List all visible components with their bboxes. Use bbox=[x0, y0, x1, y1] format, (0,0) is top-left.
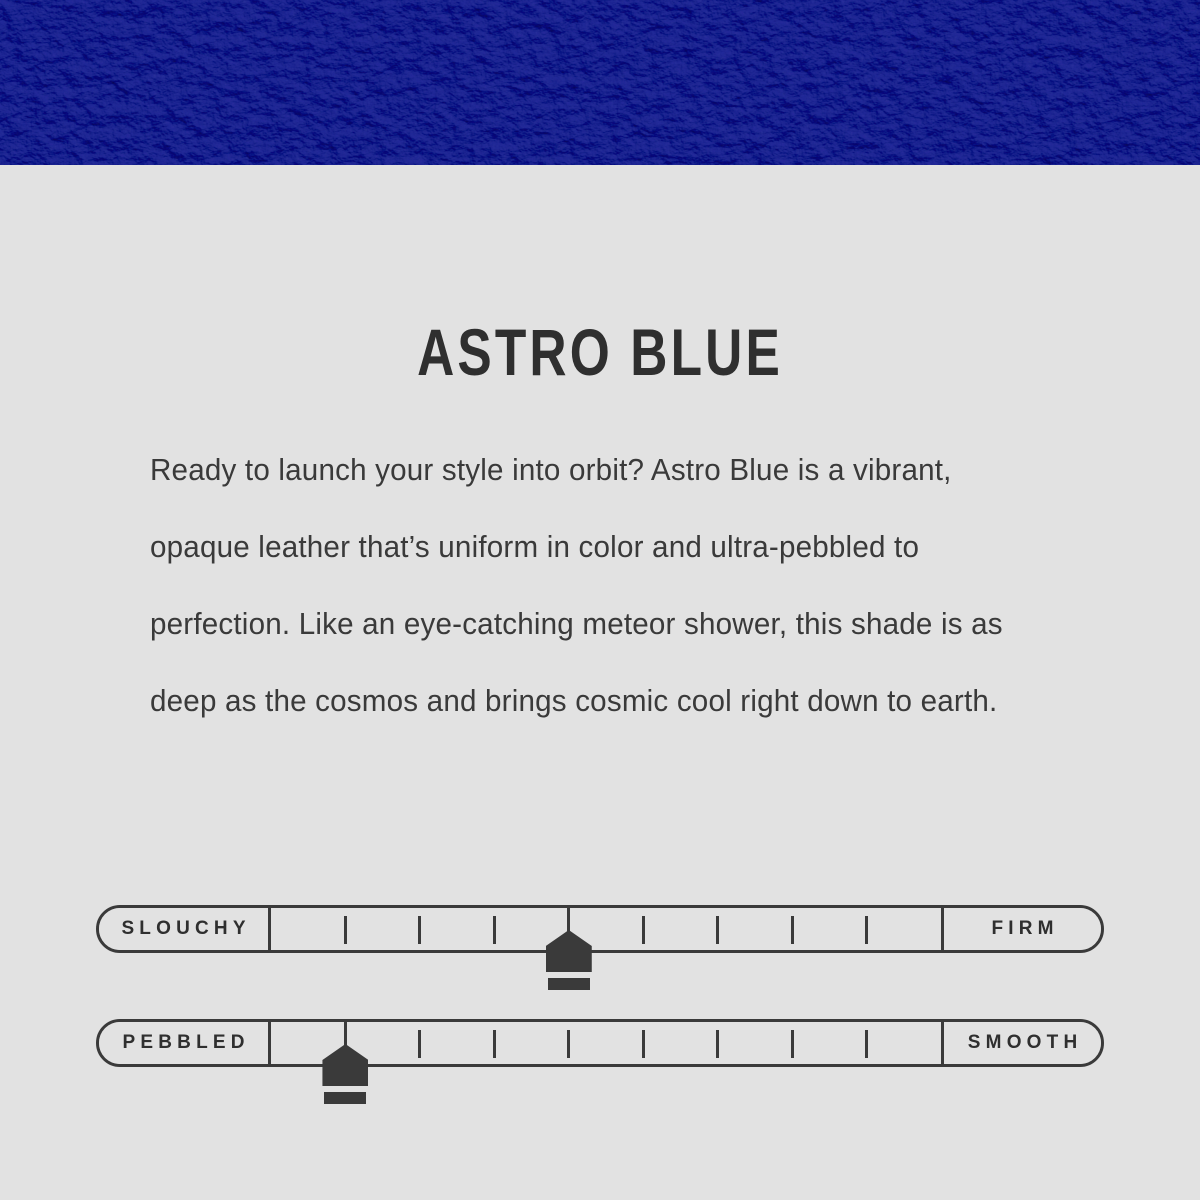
leather-swatch-band bbox=[0, 0, 1200, 165]
attribute-scales: SLOUCHY FIRM PEBBLED SMOOTH bbox=[96, 905, 1104, 1133]
description-line-2: opaque leather that’s uniform in color a… bbox=[150, 509, 1025, 586]
scale-tick bbox=[344, 916, 347, 944]
leather-swatch-card: ASTRO BLUE Ready to launch your style in… bbox=[0, 0, 1200, 1200]
scale-tick bbox=[642, 1030, 645, 1058]
scale-track-structure[interactable]: SLOUCHY FIRM bbox=[96, 905, 1104, 953]
scale-tick bbox=[642, 916, 645, 944]
scale-ticks-texture[interactable] bbox=[271, 1022, 941, 1064]
scale-tick bbox=[791, 916, 794, 944]
marker-foot bbox=[324, 1092, 366, 1104]
scale-tick bbox=[791, 1030, 794, 1058]
scale-tick bbox=[493, 916, 496, 944]
scale-texture: PEBBLED SMOOTH bbox=[96, 1019, 1104, 1067]
scale-tick bbox=[567, 916, 570, 944]
page-title: ASTRO BLUE bbox=[132, 319, 1068, 385]
scale-tick bbox=[418, 916, 421, 944]
scale-label-pebbled: PEBBLED bbox=[99, 1022, 271, 1064]
description-line-3: perfection. Like an eye-catching meteor … bbox=[150, 586, 1025, 663]
scale-tick bbox=[567, 1030, 570, 1058]
scale-label-firm: FIRM bbox=[941, 908, 1101, 950]
scale-tick bbox=[493, 1030, 496, 1058]
scale-structure: SLOUCHY FIRM bbox=[96, 905, 1104, 953]
marker-foot bbox=[548, 978, 590, 990]
scale-track-texture[interactable]: PEBBLED SMOOTH bbox=[96, 1019, 1104, 1067]
description-line-4: deep as the cosmos and brings cosmic coo… bbox=[150, 663, 1025, 740]
description-paragraph: Ready to launch your style into orbit? A… bbox=[150, 432, 1052, 740]
scale-tick bbox=[865, 916, 868, 944]
pebbled-leather-texture bbox=[0, 0, 1200, 165]
scale-tick bbox=[716, 1030, 719, 1058]
scale-ticks-structure[interactable] bbox=[271, 908, 941, 950]
scale-tick bbox=[865, 1030, 868, 1058]
scale-label-smooth: SMOOTH bbox=[941, 1022, 1101, 1064]
description-line-1: Ready to launch your style into orbit? A… bbox=[150, 432, 1025, 509]
scale-tick bbox=[418, 1030, 421, 1058]
scale-tick bbox=[344, 1030, 347, 1058]
scale-tick bbox=[716, 916, 719, 944]
scale-label-slouchy: SLOUCHY bbox=[99, 908, 271, 950]
